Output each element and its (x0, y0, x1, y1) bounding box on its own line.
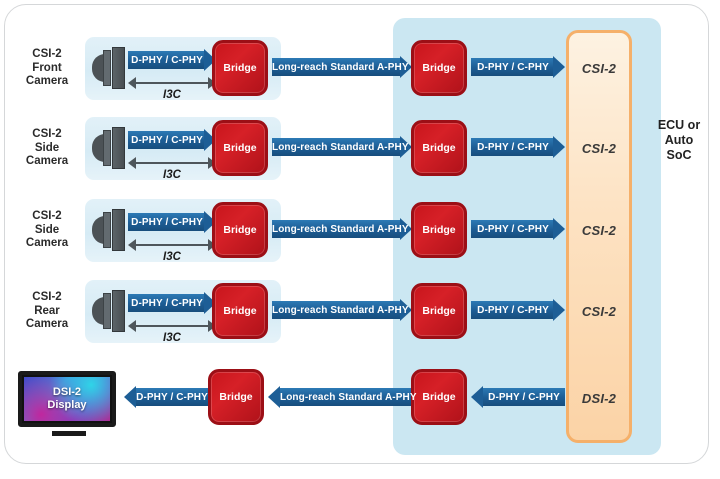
link-label: Long-reach Standard A-PHY (272, 62, 419, 73)
link-dphy-cphy-side-2: D-PHY / C-PHY (128, 213, 216, 231)
camera-body-icon (112, 47, 125, 89)
link-i3c-front: I3C (128, 76, 216, 90)
camera-bar-icon (103, 212, 111, 248)
camera-label-line2: Front (12, 62, 82, 76)
camera-label-line3: Camera (12, 155, 82, 169)
display-text: DSI-2 Display (47, 386, 86, 412)
link-i3c-rear: I3C (128, 319, 216, 333)
link-label: D-PHY / C-PHY (124, 392, 208, 403)
camera-bar-icon (103, 50, 111, 86)
camera-label-rear: CSI-2 Rear Camera (12, 291, 82, 332)
ecu-label: ECU or Auto SoC (646, 118, 712, 163)
display-icon: DSI-2 Display (18, 371, 116, 427)
camera-body-icon (112, 209, 125, 251)
camera-label-line3: Camera (12, 318, 82, 332)
camera-label-side-2: CSI-2 Side Camera (12, 210, 82, 251)
link-dphy-cphy-soc-front: D-PHY / C-PHY (471, 58, 565, 76)
link-label: D-PHY / C-PHY (471, 305, 565, 316)
soc-port-csi2-1: CSI-2 (566, 61, 632, 76)
link-dphy-cphy-soc-side-1: D-PHY / C-PHY (471, 138, 565, 156)
link-dphy-cphy-front: D-PHY / C-PHY (128, 51, 216, 69)
link-i3c-side-1: I3C (128, 156, 216, 170)
camera-label-line2: Side (12, 142, 82, 156)
bridge-far-side-2[interactable]: Bridge (411, 202, 467, 258)
link-label: D-PHY / C-PHY (471, 142, 565, 153)
camera-body-icon (112, 127, 125, 169)
soc-port-csi2-3: CSI-2 (566, 223, 632, 238)
soc-port-csi2-4: CSI-2 (566, 304, 632, 319)
link-label: Long-reach Standard A-PHY (272, 142, 419, 153)
link-label: D-PHY / C-PHY (471, 62, 565, 73)
link-aphy-display: Long-reach Standard A-PHY (268, 388, 412, 406)
camera-icon (92, 209, 126, 251)
link-label: I3C (128, 169, 216, 181)
soc-port-csi2-2: CSI-2 (566, 141, 632, 156)
link-label: D-PHY / C-PHY (128, 55, 216, 66)
camera-label-line3: Camera (12, 237, 82, 251)
link-aphy-front: Long-reach Standard A-PHY (272, 58, 412, 76)
link-label: D-PHY / C-PHY (471, 392, 565, 403)
bridge-near-side-1[interactable]: Bridge (212, 120, 268, 176)
link-label: Long-reach Standard A-PHY (268, 392, 417, 403)
link-label: I3C (128, 332, 216, 344)
bridge-near-side-2[interactable]: Bridge (212, 202, 268, 258)
link-dphy-cphy-rear: D-PHY / C-PHY (128, 294, 216, 312)
camera-bar-icon (103, 293, 111, 329)
bridge-far-rear[interactable]: Bridge (411, 283, 467, 339)
link-dphy-cphy-side-1: D-PHY / C-PHY (128, 131, 216, 149)
link-label: Long-reach Standard A-PHY (272, 224, 419, 235)
ecu-label-line1: ECU or (646, 118, 712, 133)
bridge-near-display[interactable]: Bridge (208, 369, 264, 425)
link-label: D-PHY / C-PHY (471, 224, 565, 235)
bridge-far-display[interactable]: Bridge (411, 369, 467, 425)
link-label: D-PHY / C-PHY (128, 135, 216, 146)
ecu-label-line3: SoC (646, 148, 712, 163)
display-screen: DSI-2 Display (24, 377, 110, 421)
link-dphy-cphy-soc-rear: D-PHY / C-PHY (471, 301, 565, 319)
camera-label-line2: Side (12, 224, 82, 238)
camera-label-front: CSI-2 Front Camera (12, 48, 82, 89)
camera-icon (92, 127, 126, 169)
link-aphy-side-1: Long-reach Standard A-PHY (272, 138, 412, 156)
link-aphy-side-2: Long-reach Standard A-PHY (272, 220, 412, 238)
camera-label-line1: CSI-2 (12, 291, 82, 305)
bridge-far-front[interactable]: Bridge (411, 40, 467, 96)
camera-bar-icon (103, 130, 111, 166)
diagram-canvas: CSI-2 Front Camera D-PHY / C-PHY I3C Bri… (0, 0, 720, 479)
display-line2: Display (47, 399, 86, 412)
camera-label-line1: CSI-2 (12, 210, 82, 224)
bridge-near-front[interactable]: Bridge (212, 40, 268, 96)
camera-label-line3: Camera (12, 75, 82, 89)
camera-icon (92, 47, 126, 89)
link-aphy-rear: Long-reach Standard A-PHY (272, 301, 412, 319)
bridge-near-rear[interactable]: Bridge (212, 283, 268, 339)
camera-label-line1: CSI-2 (12, 48, 82, 62)
camera-label-line1: CSI-2 (12, 128, 82, 142)
link-dphy-cphy-soc-side-2: D-PHY / C-PHY (471, 220, 565, 238)
camera-icon (92, 290, 126, 332)
camera-label-line2: Rear (12, 305, 82, 319)
camera-body-icon (112, 290, 125, 332)
link-label: I3C (128, 251, 216, 263)
link-label: D-PHY / C-PHY (128, 298, 216, 309)
camera-label-side-1: CSI-2 Side Camera (12, 128, 82, 169)
link-label: D-PHY / C-PHY (128, 217, 216, 228)
link-dphy-cphy-display: D-PHY / C-PHY (124, 388, 208, 406)
link-i3c-side-2: I3C (128, 238, 216, 252)
bridge-far-side-1[interactable]: Bridge (411, 120, 467, 176)
link-label: Long-reach Standard A-PHY (272, 305, 419, 316)
display-stand (52, 431, 86, 436)
ecu-label-line2: Auto (646, 133, 712, 148)
display-line1: DSI-2 (47, 386, 86, 399)
link-label: I3C (128, 89, 216, 101)
link-dphy-cphy-soc-display: D-PHY / C-PHY (471, 388, 565, 406)
soc-port-dsi2: DSI-2 (566, 391, 632, 406)
